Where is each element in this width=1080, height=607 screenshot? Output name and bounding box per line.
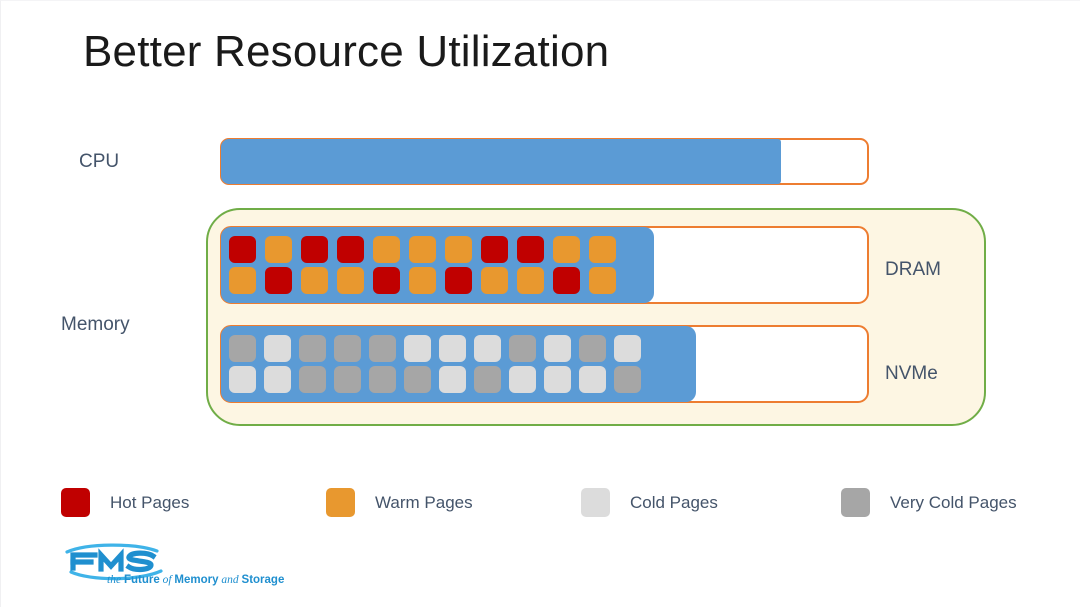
legend-swatch-cold <box>581 488 610 517</box>
fms-logo: the Future of Memory and Storage <box>61 541 321 597</box>
legend-label: Very Cold Pages <box>890 493 1017 513</box>
memory-page-cold <box>509 366 536 393</box>
memory-page-cold <box>404 335 431 362</box>
memory-page-very-cold <box>369 366 396 393</box>
memory-page-cold <box>439 366 466 393</box>
dram-tier-label: DRAM <box>885 259 941 281</box>
memory-page-warm <box>589 236 616 263</box>
dram-page-row <box>229 236 646 263</box>
nvme-tier-label: NVMe <box>885 363 938 385</box>
memory-page-hot <box>337 236 364 263</box>
memory-page-hot <box>481 236 508 263</box>
memory-page-cold <box>544 366 571 393</box>
memory-row-label: Memory <box>61 314 130 336</box>
legend-swatch-hot <box>61 488 90 517</box>
memory-page-hot <box>373 267 400 294</box>
memory-page-hot <box>553 267 580 294</box>
memory-page-warm <box>589 267 616 294</box>
memory-page-hot <box>517 236 544 263</box>
memory-page-warm <box>409 267 436 294</box>
fms-logo-tagline: the Future of Memory and Storage <box>107 574 284 586</box>
memory-page-hot <box>229 236 256 263</box>
memory-page-cold <box>579 366 606 393</box>
memory-page-hot <box>301 236 328 263</box>
cpu-utilization-bar <box>220 138 869 185</box>
memory-page-very-cold <box>509 335 536 362</box>
cpu-utilization-fill <box>221 139 781 184</box>
memory-page-hot <box>265 267 292 294</box>
page-title: Better Resource Utilization <box>83 27 609 77</box>
memory-page-very-cold <box>299 335 326 362</box>
legend-label: Cold Pages <box>630 493 718 513</box>
tagline-of: of <box>160 574 175 586</box>
slide-canvas: Better Resource Utilization CPU Memory D… <box>0 0 1080 607</box>
memory-page-very-cold <box>334 366 361 393</box>
tagline-and: and <box>219 574 242 586</box>
memory-page-cold <box>544 335 571 362</box>
memory-page-cold <box>264 335 291 362</box>
memory-page-very-cold <box>299 366 326 393</box>
memory-page-cold <box>229 366 256 393</box>
tagline-prefix: the <box>107 574 124 586</box>
legend-item: Cold Pages <box>581 488 718 517</box>
memory-page-very-cold <box>579 335 606 362</box>
legend-label: Hot Pages <box>110 493 189 513</box>
legend-item: Hot Pages <box>61 488 189 517</box>
memory-page-warm <box>481 267 508 294</box>
dram-page-row <box>229 267 646 294</box>
memory-page-very-cold <box>334 335 361 362</box>
legend-label: Warm Pages <box>375 493 473 513</box>
dram-utilization-bar <box>220 226 869 304</box>
memory-page-cold <box>439 335 466 362</box>
legend: Hot PagesWarm PagesCold PagesVery Cold P… <box>1 488 1080 528</box>
legend-item: Warm Pages <box>326 488 473 517</box>
memory-page-warm <box>445 236 472 263</box>
memory-page-very-cold <box>614 366 641 393</box>
tagline-future: Future <box>124 574 160 586</box>
nvme-utilization-bar <box>220 325 869 403</box>
memory-page-warm <box>409 236 436 263</box>
legend-swatch-very-cold <box>841 488 870 517</box>
memory-page-very-cold <box>404 366 431 393</box>
memory-page-warm <box>553 236 580 263</box>
memory-page-warm <box>301 267 328 294</box>
memory-page-very-cold <box>474 366 501 393</box>
legend-swatch-warm <box>326 488 355 517</box>
memory-page-hot <box>445 267 472 294</box>
nvme-page-row <box>229 366 688 393</box>
legend-item: Very Cold Pages <box>841 488 1017 517</box>
memory-page-very-cold <box>229 335 256 362</box>
tagline-memory: Memory <box>174 574 218 586</box>
nvme-page-row <box>229 335 688 362</box>
memory-page-cold <box>614 335 641 362</box>
memory-page-warm <box>337 267 364 294</box>
nvme-utilization-fill <box>221 326 696 402</box>
memory-page-cold <box>474 335 501 362</box>
memory-page-warm <box>229 267 256 294</box>
memory-page-warm <box>373 236 400 263</box>
cpu-row-label: CPU <box>79 151 119 173</box>
memory-page-warm <box>265 236 292 263</box>
tagline-storage: Storage <box>242 574 285 586</box>
memory-page-warm <box>517 267 544 294</box>
memory-page-very-cold <box>369 335 396 362</box>
memory-page-cold <box>264 366 291 393</box>
dram-utilization-fill <box>221 227 654 303</box>
